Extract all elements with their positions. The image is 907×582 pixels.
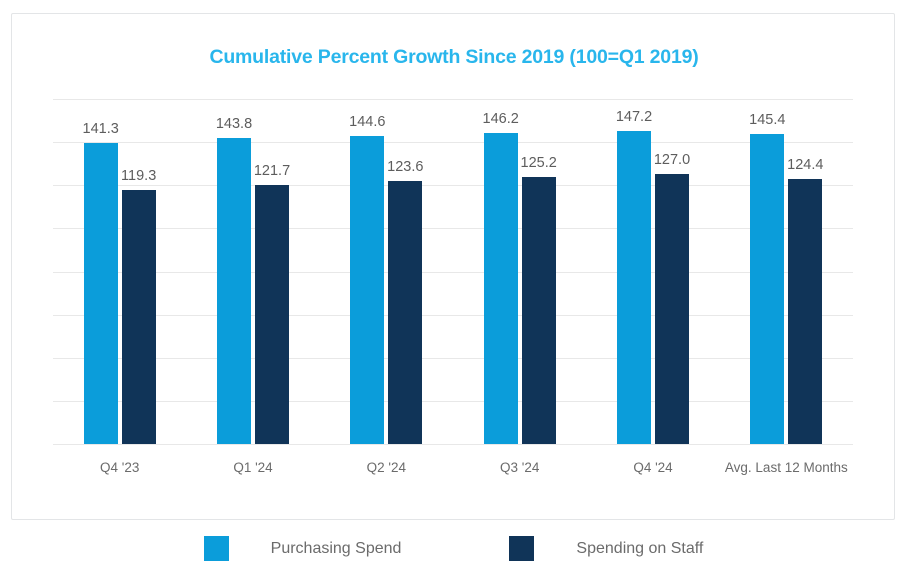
bar-value-label: 119.3 — [121, 168, 156, 184]
bar[interactable]: 127.0 — [655, 174, 689, 444]
bar[interactable]: 147.2 — [617, 131, 651, 444]
bar-value-label: 125.2 — [521, 155, 557, 171]
category-axis: Q4 '23Q1 '24Q2 '24Q3 '24Q4 '24Avg. Last … — [53, 457, 853, 517]
legend-label: Purchasing Spend — [271, 540, 402, 558]
bar[interactable]: 125.2 — [522, 177, 556, 444]
bar-group: 143.8121.7 — [217, 99, 289, 444]
legend-item[interactable]: Purchasing Spend — [204, 536, 402, 561]
legend-swatch — [509, 536, 534, 561]
category-label: Q2 '24 — [320, 457, 453, 479]
category-label: Q3 '24 — [453, 457, 586, 479]
bar-value-label: 121.7 — [254, 163, 290, 179]
chart-legend: Purchasing SpendSpending on Staff — [0, 536, 907, 561]
bar-group: 141.3119.3 — [84, 99, 156, 444]
bar[interactable]: 124.4 — [788, 179, 822, 444]
gridline — [53, 444, 853, 445]
bar[interactable]: 145.4 — [750, 134, 784, 444]
bar[interactable]: 123.6 — [388, 181, 422, 444]
legend-label: Spending on Staff — [576, 540, 703, 558]
bar-value-label: 144.6 — [349, 114, 385, 130]
bar-value-label: 145.4 — [749, 112, 785, 128]
bar-group: 144.6123.6 — [350, 99, 422, 444]
bar[interactable]: 121.7 — [255, 185, 289, 444]
bar-value-label: 123.6 — [387, 159, 423, 175]
category-label: Q4 '24 — [586, 457, 719, 479]
bar-group: 146.2125.2 — [484, 99, 556, 444]
chart-title: Cumulative Percent Growth Since 2019 (10… — [12, 46, 896, 69]
bar[interactable]: 119.3 — [122, 190, 156, 444]
category-label: Q4 '23 — [53, 457, 186, 479]
bar[interactable]: 146.2 — [484, 133, 518, 444]
bar[interactable]: 141.3 — [84, 143, 118, 444]
bar-value-label: 127.0 — [654, 152, 690, 168]
chart-card: Cumulative Percent Growth Since 2019 (10… — [11, 13, 895, 520]
category-label: Q1 '24 — [186, 457, 319, 479]
bar-value-label: 143.8 — [216, 116, 252, 132]
bar-groups: 141.3119.3143.8121.7144.6123.6146.2125.2… — [53, 99, 853, 444]
bar-value-label: 124.4 — [787, 157, 823, 173]
bar-value-label: 141.3 — [83, 121, 119, 137]
plot-area: 141.3119.3143.8121.7144.6123.6146.2125.2… — [53, 99, 853, 444]
bar-group: 145.4124.4 — [750, 99, 822, 444]
chart-page: Cumulative Percent Growth Since 2019 (10… — [0, 0, 907, 582]
bar-group: 147.2127.0 — [617, 99, 689, 444]
legend-item[interactable]: Spending on Staff — [509, 536, 703, 561]
bar[interactable]: 143.8 — [217, 138, 251, 444]
category-label: Avg. Last 12 Months — [720, 457, 853, 479]
bar-value-label: 147.2 — [616, 109, 652, 125]
bar[interactable]: 144.6 — [350, 136, 384, 444]
bar-value-label: 146.2 — [483, 111, 519, 127]
legend-swatch — [204, 536, 229, 561]
